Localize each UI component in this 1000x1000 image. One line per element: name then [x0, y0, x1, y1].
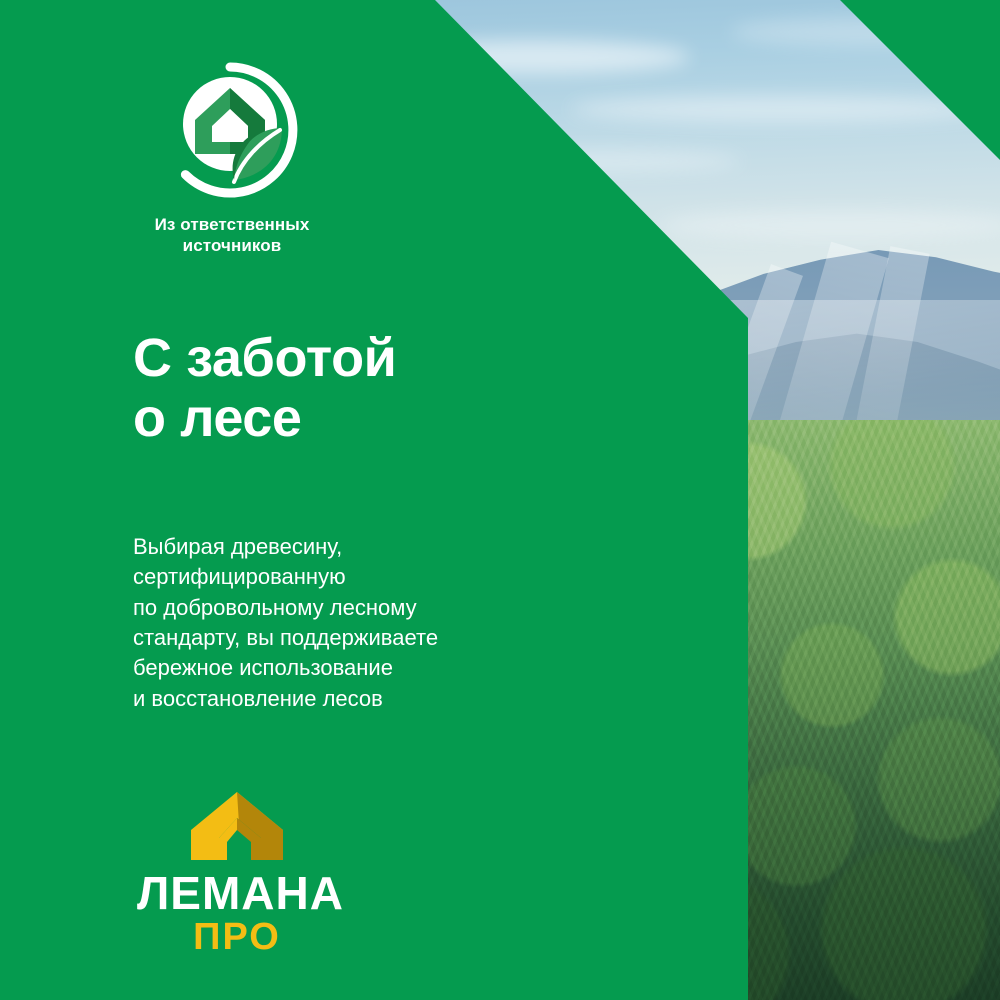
poster-canvas: Из ответственных источников С заботой о … — [0, 0, 1000, 1000]
brand-suffix: ПРО — [137, 918, 337, 956]
brand-name: ЛЕМАНА — [137, 870, 337, 916]
house-leaf-circle-icon — [162, 62, 298, 198]
brand-logo: ЛЕМАНА ПРО — [137, 790, 337, 956]
body-paragraph: Выбирая древесину, сертифицированную по … — [133, 532, 438, 714]
certification-block: Из ответственных источников — [132, 62, 332, 256]
page-title: С заботой о лесе — [133, 328, 396, 449]
certification-caption: Из ответственных источников — [132, 214, 332, 256]
lemana-house-icon — [189, 790, 285, 862]
poster-content: Из ответственных источников С заботой о … — [0, 0, 1000, 1000]
